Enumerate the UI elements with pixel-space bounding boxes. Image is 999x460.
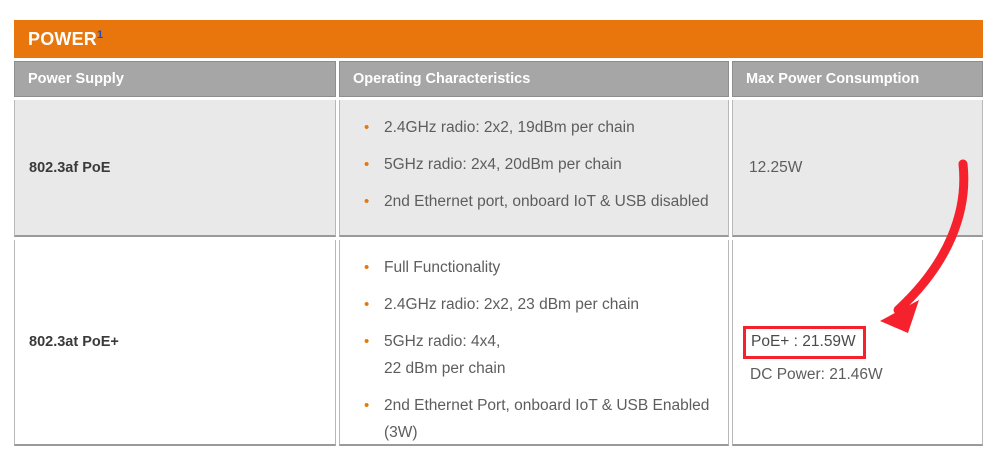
column-header-operating-characteristics: Operating Characteristics: [339, 61, 729, 97]
section-footnote-marker: 1: [97, 29, 103, 41]
table-header-row: Power Supply Operating Characteristics M…: [14, 61, 983, 97]
list-item: 2nd Ethernet Port, onboard IoT & USB Ena…: [364, 392, 718, 446]
table-row: 802.3af PoE 2.4GHz radio: 2x2, 19dBm per…: [14, 100, 983, 237]
table-row: 802.3at PoE+ Full Functionality 2.4GHz r…: [14, 240, 983, 446]
column-header-power-supply: Power Supply: [14, 61, 336, 97]
cell-power-supply: 802.3at PoE+: [14, 240, 336, 446]
column-header-max-power-consumption: Max Power Consumption: [732, 61, 983, 97]
cell-max-power-consumption: PoE+ : 21.59W DC Power: 21.46W: [732, 240, 983, 446]
max-power-value: 12.25W: [749, 156, 802, 180]
max-power-values: PoE+ : 21.59W DC Power: 21.46W: [749, 326, 883, 387]
list-item: 5GHz radio: 2x4, 20dBm per chain: [364, 151, 718, 178]
power-supply-label: 802.3af PoE: [29, 160, 110, 176]
section-title: POWER1: [28, 29, 103, 49]
characteristics-list: 2.4GHz radio: 2x2, 19dBm per chain 5GHz …: [340, 100, 728, 215]
cell-operating-characteristics: Full Functionality 2.4GHz radio: 2x2, 23…: [339, 240, 729, 446]
power-supply-label: 802.3at PoE+: [29, 334, 119, 350]
section-banner: POWER1: [14, 20, 983, 58]
section-title-text: POWER: [28, 29, 97, 49]
list-item: 5GHz radio: 4x4, 22 dBm per chain: [364, 328, 718, 382]
highlighted-poe-plus-value: PoE+ : 21.59W: [743, 326, 866, 359]
cell-operating-characteristics: 2.4GHz radio: 2x2, 19dBm per chain 5GHz …: [339, 100, 729, 237]
dc-power-value: DC Power: 21.46W: [749, 363, 883, 387]
power-spec-table: POWER1 Power Supply Operating Characteri…: [14, 20, 983, 446]
characteristics-list: Full Functionality 2.4GHz radio: 2x2, 23…: [340, 240, 728, 446]
list-item: 2.4GHz radio: 2x2, 19dBm per chain: [364, 114, 718, 141]
list-item: 2nd Ethernet port, onboard IoT & USB dis…: [364, 188, 718, 215]
list-item: 2.4GHz radio: 2x2, 23 dBm per chain: [364, 291, 718, 318]
list-item: Full Functionality: [364, 254, 718, 281]
cell-max-power-consumption: 12.25W: [732, 100, 983, 237]
cell-power-supply: 802.3af PoE: [14, 100, 336, 237]
